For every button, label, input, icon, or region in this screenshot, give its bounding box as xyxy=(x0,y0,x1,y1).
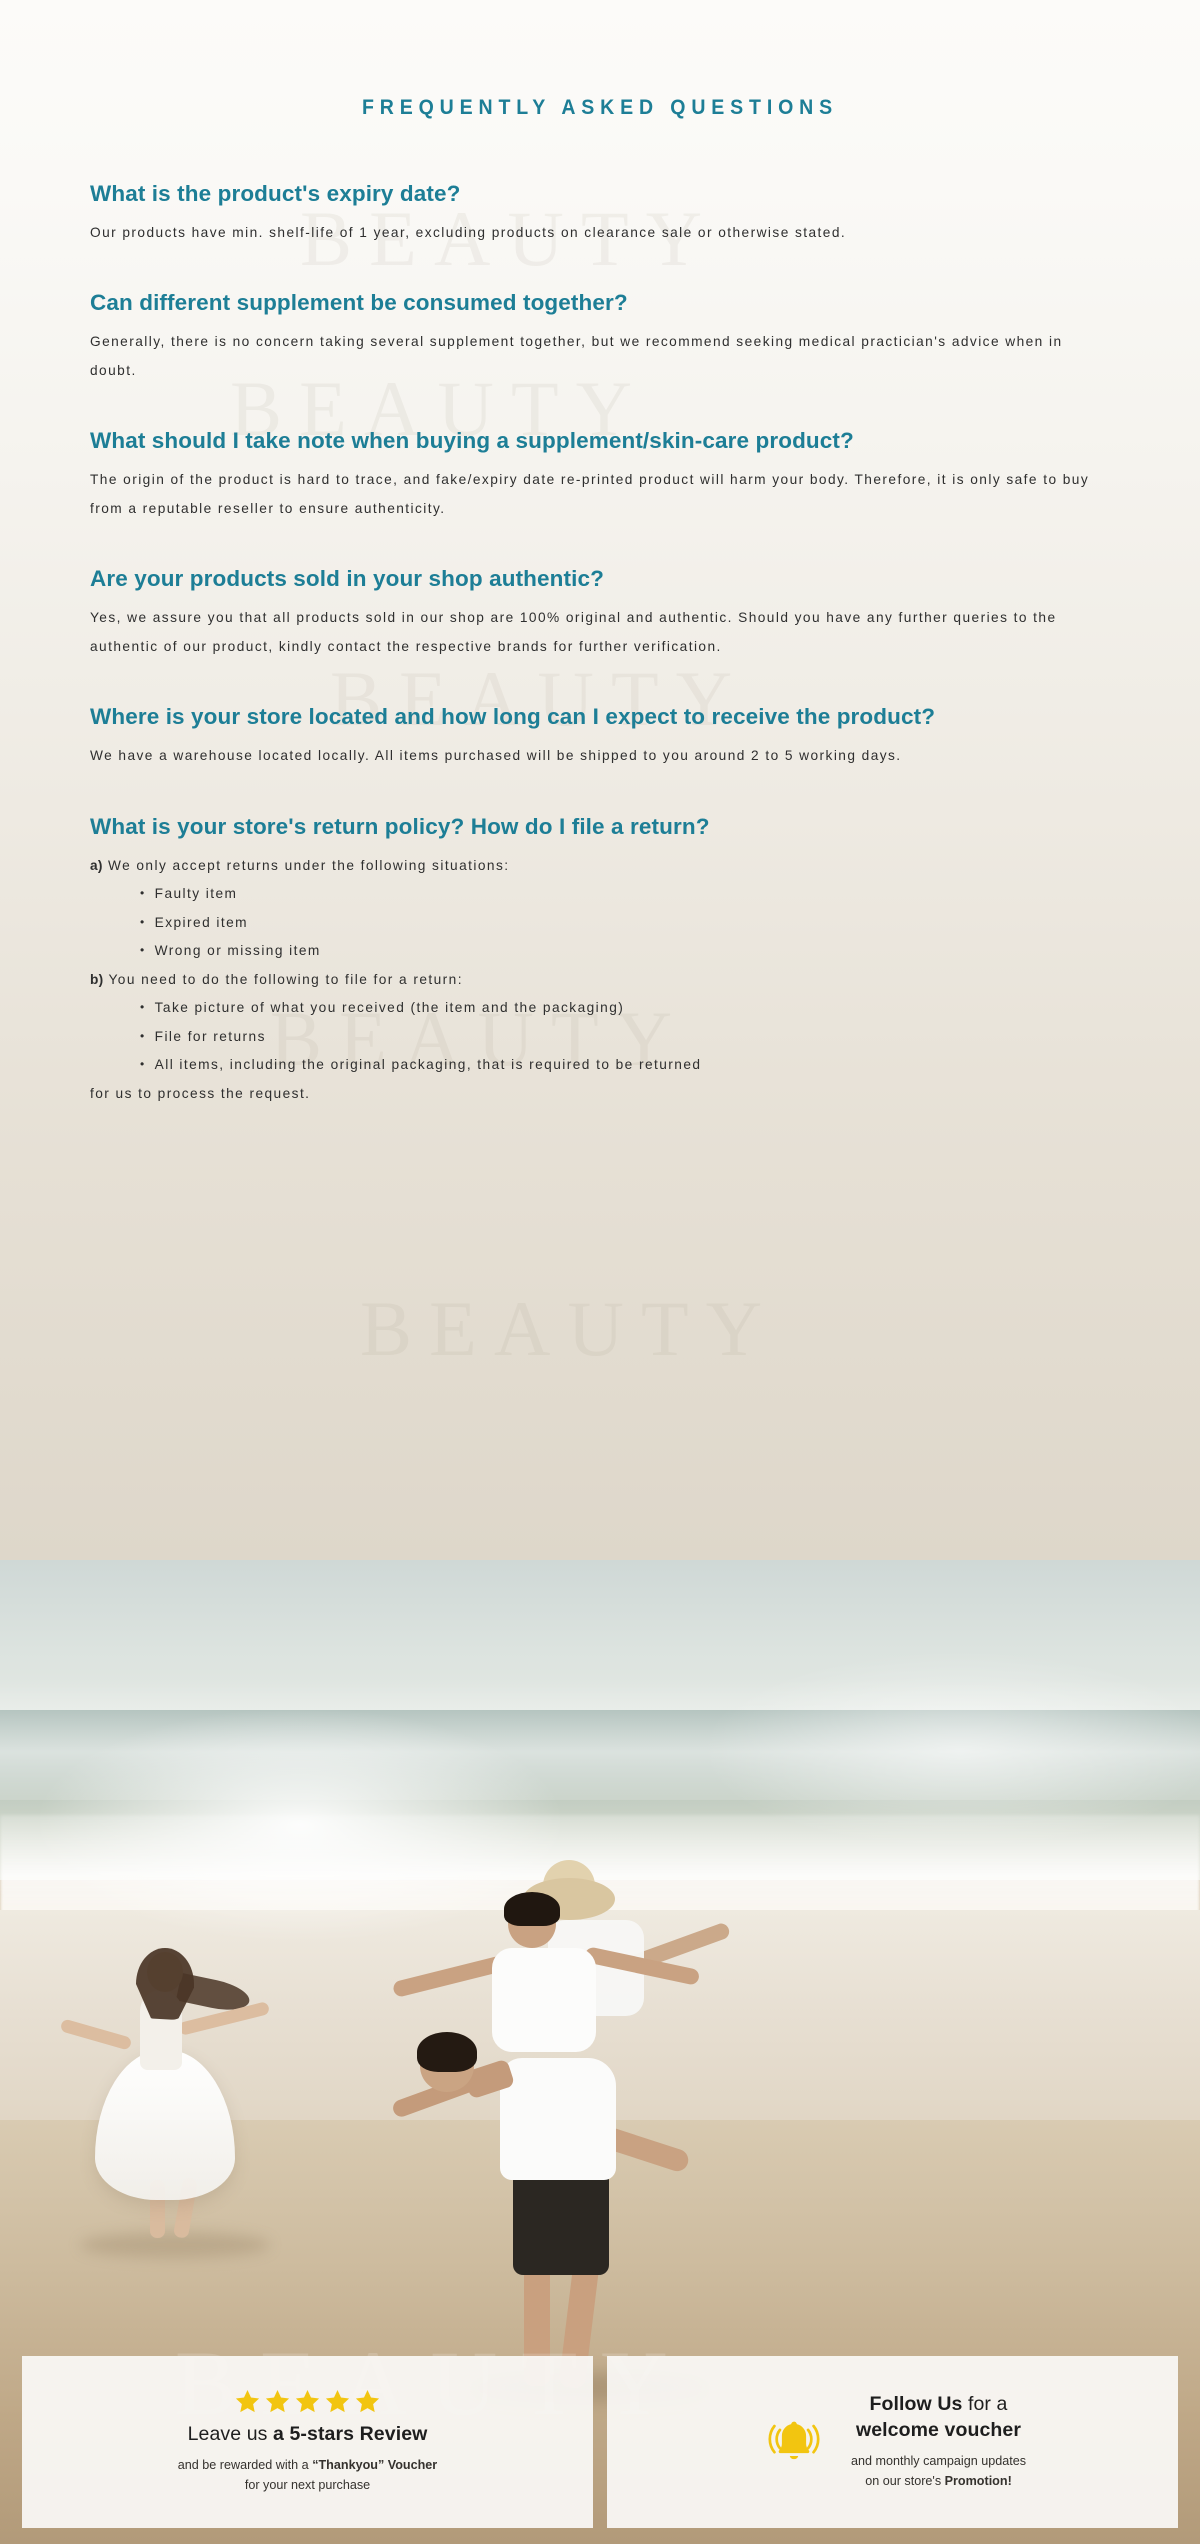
review-card-subtext: and be rewarded with a “Thankyou” Vouche… xyxy=(178,2456,437,2496)
review-card[interactable]: Leave us a 5-stars Review and be rewarde… xyxy=(22,2356,593,2528)
page-title: FREQUENTLY ASKED QUESTIONS xyxy=(126,0,1075,120)
returns-lead-text: We only accept returns under the followi… xyxy=(108,858,510,873)
follow-sub-line1: and monthly campaign updates xyxy=(851,2454,1026,2468)
adult-hair xyxy=(417,2032,477,2072)
follow-headline-bold2: welcome voucher xyxy=(856,2419,1021,2441)
sun-glare xyxy=(40,1710,560,1940)
faq-question: What should I take note when buying a su… xyxy=(90,425,1110,457)
faq-item-authenticity: Are your products sold in your shop auth… xyxy=(90,563,1110,661)
adult-shorts xyxy=(513,2165,609,2275)
faq-answer: Generally, there is no concern taking se… xyxy=(90,328,1110,385)
faq-question: What is the product's expiry date? xyxy=(90,178,1110,210)
faq-question: Can different supplement be consumed tog… xyxy=(90,287,1110,319)
follow-headline-plain: for a xyxy=(962,2393,1007,2415)
returns-lead-text: You need to do the following to file for… xyxy=(108,972,462,987)
star-icon xyxy=(354,2388,381,2415)
faq-section: BEAUTY BEAUTY BEAUTY BEAUTY BEAUTY FREQU… xyxy=(0,0,1200,1560)
follow-headline-bold1: Follow Us xyxy=(869,2393,962,2415)
list-item: Expired item xyxy=(90,909,1110,938)
faq-page: BEAUTY BEAUTY BEAUTY BEAUTY BEAUTY FREQU… xyxy=(0,0,1200,2544)
faq-item-returns: What is your store's return policy? How … xyxy=(90,811,1110,1108)
star-rating xyxy=(234,2388,381,2415)
follow-card-text: Follow Us for a welcome voucher and mont… xyxy=(851,2392,1026,2491)
faq-item-buying-notes: What should I take note when buying a su… xyxy=(90,425,1110,523)
follow-sub-line2-plain: on our store's xyxy=(865,2474,944,2488)
faq-item-combine-supplements: Can different supplement be consumed tog… xyxy=(90,287,1110,385)
faq-question: What is your store's return policy? How … xyxy=(90,811,1110,843)
follow-sub-line2-bold: Promotion! xyxy=(945,2474,1012,2488)
returns-group-b-bullets: Take picture of what you received (the i… xyxy=(90,994,1110,1080)
review-card-headline: Leave us a 5-stars Review xyxy=(188,2422,428,2447)
beach-photo-section: BEAUTY Leave us a 5-stars Review and be … xyxy=(0,1560,1200,2544)
faq-answer: The origin of the product is hard to tra… xyxy=(90,466,1110,523)
returns-group-a-lead: a) We only accept returns under the foll… xyxy=(90,852,1110,881)
faq-answer: Our products have min. shelf-life of 1 y… xyxy=(90,219,1110,248)
list-item: Faulty item xyxy=(90,880,1110,909)
review-sub-plain: and be rewarded with a xyxy=(178,2458,312,2472)
star-icon xyxy=(264,2388,291,2415)
follow-card[interactable]: Follow Us for a welcome voucher and mont… xyxy=(607,2356,1178,2528)
child-hair xyxy=(504,1892,560,1926)
faq-question: Where is your store located and how long… xyxy=(90,701,1110,733)
star-icon xyxy=(294,2388,321,2415)
list-marker-b: b) xyxy=(90,972,103,987)
cta-cards: Leave us a 5-stars Review and be rewarde… xyxy=(0,2356,1200,2528)
child-torso xyxy=(492,1948,596,2052)
faq-answer: Yes, we assure you that all products sol… xyxy=(90,604,1110,661)
adult-torso xyxy=(500,2058,616,2180)
list-marker-a: a) xyxy=(90,858,103,873)
list-item: Take picture of what you received (the i… xyxy=(90,994,1110,1023)
review-sub-line2: for your next purchase xyxy=(245,2478,370,2492)
follow-card-headline: Follow Us for a welcome voucher xyxy=(856,2392,1021,2443)
faq-item-expiry: What is the product's expiry date? Our p… xyxy=(90,178,1110,247)
bell-icon-wrapper xyxy=(759,2414,829,2470)
returns-group-a-bullets: Faulty item Expired item Wrong or missin… xyxy=(90,880,1110,966)
review-headline-bold: a 5-stars Review xyxy=(273,2423,427,2445)
list-item: File for returns xyxy=(90,1023,1110,1052)
faq-item-shipping: Where is your store located and how long… xyxy=(90,701,1110,770)
list-item: All items, including the original packag… xyxy=(90,1051,1110,1080)
bell-icon xyxy=(763,2414,825,2470)
faq-answer: We have a warehouse located locally. All… xyxy=(90,742,1110,771)
faq-question: Are your products sold in your shop auth… xyxy=(90,563,1110,595)
shadow xyxy=(80,2232,270,2258)
returns-group-b-lead: b) You need to do the following to file … xyxy=(90,966,1110,995)
background-watermark: BEAUTY xyxy=(360,1290,779,1368)
review-headline-plain: Leave us xyxy=(188,2423,273,2445)
sun-glare-secondary xyxy=(700,1650,1200,1850)
star-icon xyxy=(324,2388,351,2415)
follow-card-subtext: and monthly campaign updates on our stor… xyxy=(851,2452,1026,2492)
faq-list: What is the product's expiry date? Our p… xyxy=(90,178,1110,1108)
star-icon xyxy=(234,2388,261,2415)
returns-trailing-text: for us to process the request. xyxy=(90,1080,1110,1109)
list-item: Wrong or missing item xyxy=(90,937,1110,966)
review-sub-bold: “Thankyou” Voucher xyxy=(312,2458,437,2472)
